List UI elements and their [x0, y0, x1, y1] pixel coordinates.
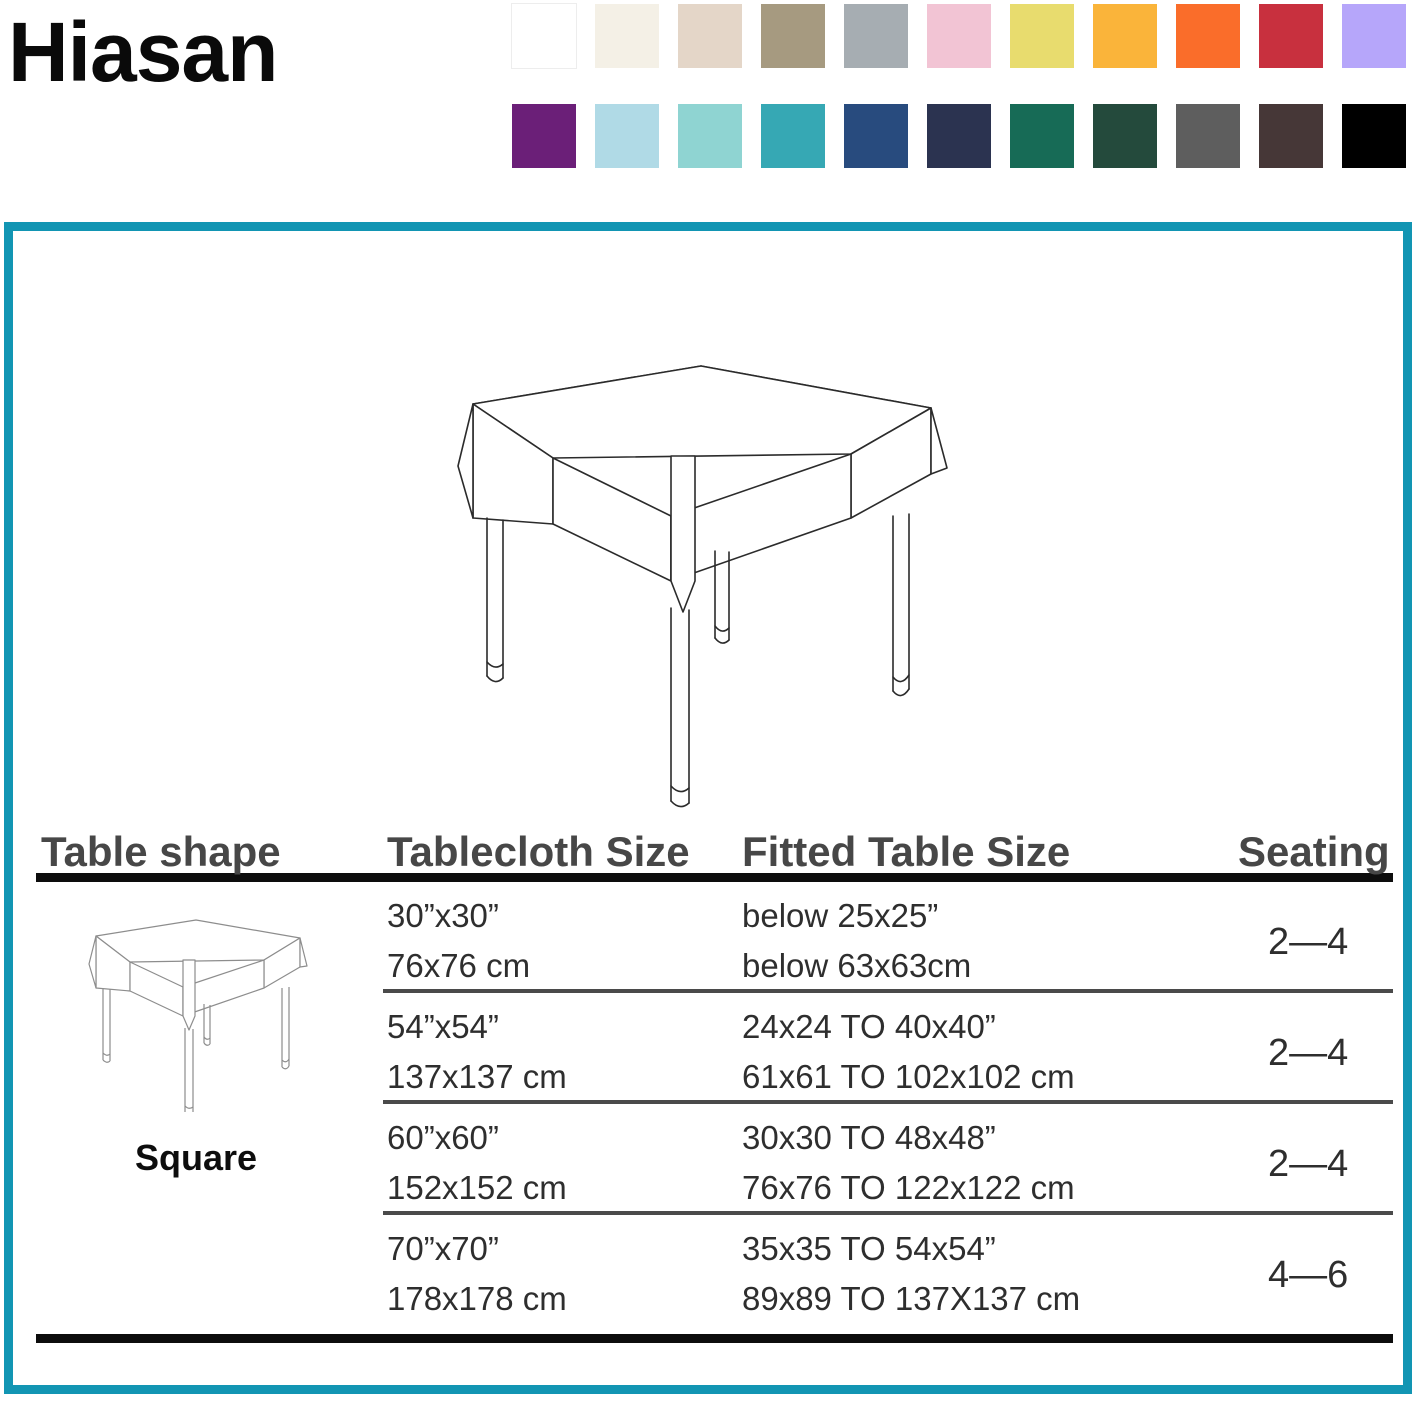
cell-tablecloth-cm: 178x178 cm — [387, 1282, 567, 1315]
table-header-row: Table shape Tablecloth Size Fitted Table… — [36, 811, 1393, 873]
header-band: Hiasan — [0, 0, 1417, 200]
color-swatch-orange[interactable] — [1176, 4, 1240, 68]
cell-fitted-cm: 89x89 TO 137X137 cm — [742, 1282, 1080, 1315]
product-size-chart-infographic: Hiasan — [0, 0, 1417, 1402]
column-header-table-shape: Table shape — [41, 831, 281, 873]
color-swatch-beige[interactable] — [678, 4, 742, 68]
color-swatch-aqua[interactable] — [678, 104, 742, 168]
cell-seating: 4—6 — [1268, 1256, 1348, 1294]
color-swatch-red[interactable] — [1259, 4, 1323, 68]
cell-fitted-cm: 61x61 TO 102x102 cm — [742, 1060, 1075, 1093]
color-swatch-ivory[interactable] — [595, 4, 659, 68]
square-table-with-tablecloth-illustration — [423, 346, 1003, 816]
color-swatch-grid — [512, 4, 1417, 204]
cell-seating: 2—4 — [1268, 1145, 1348, 1183]
color-swatch-row-2 — [512, 104, 1417, 168]
column-header-fitted-size: Fitted Table Size — [742, 831, 1070, 873]
color-swatch-purple[interactable] — [512, 104, 576, 168]
table-row: 54”x54” 137x137 cm 24x24 TO 40x40” 61x61… — [36, 993, 1393, 1100]
cell-seating: 2—4 — [1268, 923, 1348, 961]
color-swatch-white[interactable] — [512, 4, 576, 68]
color-swatch-gold[interactable] — [1093, 4, 1157, 68]
color-swatch-black[interactable] — [1342, 104, 1406, 168]
table-row: 30”x30” 76x76 cm below 25x25” below 63x6… — [36, 882, 1393, 989]
color-swatch-taupe[interactable] — [761, 4, 825, 68]
color-swatch-lavender[interactable] — [1342, 4, 1406, 68]
size-chart-card: Table shape Tablecloth Size Fitted Table… — [4, 222, 1412, 1394]
cell-fitted-cm: 76x76 TO 122x122 cm — [742, 1171, 1075, 1204]
cell-seating: 2—4 — [1268, 1034, 1348, 1072]
color-swatch-dark-green[interactable] — [1093, 104, 1157, 168]
table-row: 70”x70” 178x178 cm 35x35 TO 54x54” 89x89… — [36, 1215, 1393, 1334]
color-swatch-teal[interactable] — [761, 104, 825, 168]
color-swatch-denim-blue[interactable] — [844, 104, 908, 168]
brand-logo: Hiasan — [8, 10, 277, 94]
color-swatch-grey[interactable] — [844, 4, 908, 68]
cell-tablecloth-cm: 137x137 cm — [387, 1060, 567, 1093]
cell-fitted-inches: 35x35 TO 54x54” — [742, 1232, 996, 1265]
cell-fitted-inches: 24x24 TO 40x40” — [742, 1010, 996, 1043]
cell-tablecloth-inches: 30”x30” — [387, 899, 499, 932]
cell-tablecloth-inches: 54”x54” — [387, 1010, 499, 1043]
column-header-tablecloth-size: Tablecloth Size — [387, 831, 690, 873]
color-swatch-navy[interactable] — [927, 104, 991, 168]
color-swatch-emerald[interactable] — [1010, 104, 1074, 168]
table-body: Square 30”x30” 76x76 cm below 25x25” bel… — [36, 882, 1393, 1343]
column-header-seating: Seating — [1238, 831, 1390, 873]
cell-fitted-inches: 30x30 TO 48x48” — [742, 1121, 996, 1154]
color-swatch-dark-brown[interactable] — [1259, 104, 1323, 168]
cell-fitted-cm: below 63x63cm — [742, 949, 971, 982]
color-swatch-yellow[interactable] — [1010, 4, 1074, 68]
table-row: 60”x60” 152x152 cm 30x30 TO 48x48” 76x76… — [36, 1104, 1393, 1211]
size-specification-table: Table shape Tablecloth Size Fitted Table… — [36, 811, 1393, 1343]
color-swatch-row-1 — [512, 4, 1417, 68]
color-swatch-pink[interactable] — [927, 4, 991, 68]
cell-tablecloth-cm: 152x152 cm — [387, 1171, 567, 1204]
color-swatch-light-blue[interactable] — [595, 104, 659, 168]
cell-fitted-inches: below 25x25” — [742, 899, 938, 932]
cell-tablecloth-inches: 60”x60” — [387, 1121, 499, 1154]
cell-tablecloth-inches: 70”x70” — [387, 1232, 499, 1265]
color-swatch-dark-grey[interactable] — [1176, 104, 1240, 168]
cell-tablecloth-cm: 76x76 cm — [387, 949, 530, 982]
table-bottom-divider — [36, 1334, 1393, 1343]
